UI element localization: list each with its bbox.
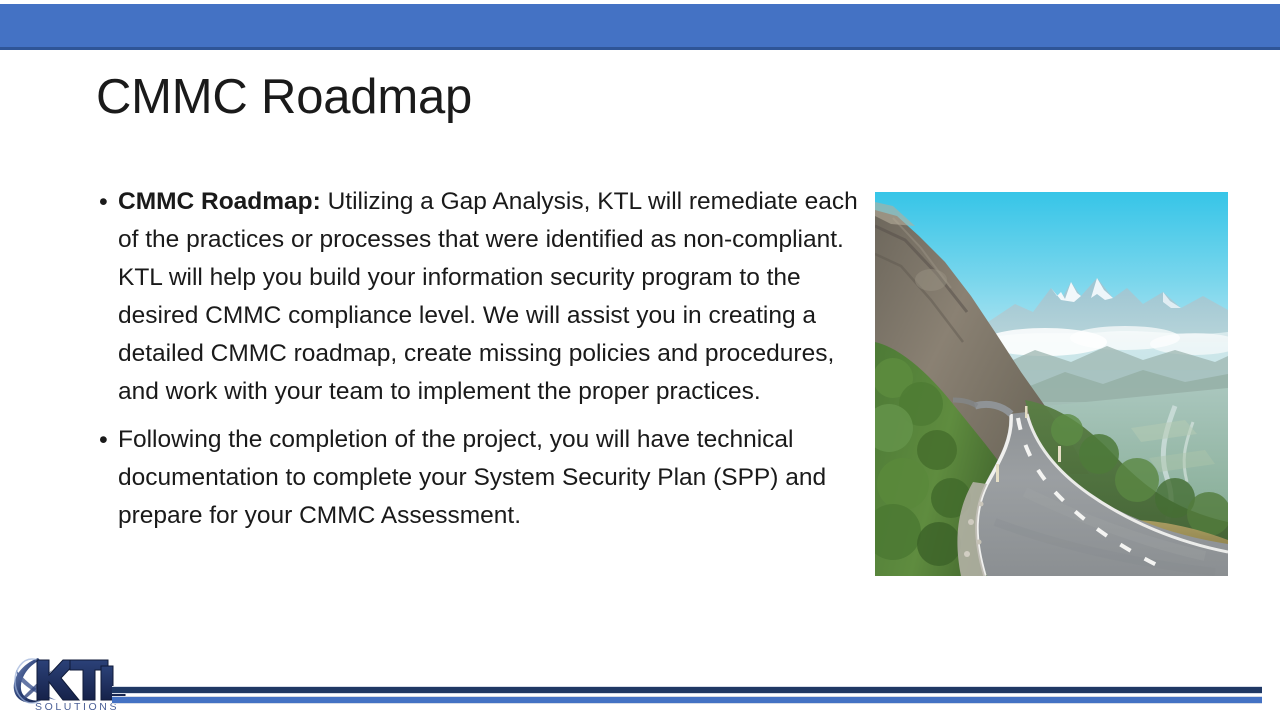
footer-rule-dark (112, 686, 1262, 694)
bullet-text: CMMC Roadmap: Utilizing a Gap Analysis, … (118, 183, 858, 411)
list-item: • Following the completion of the projec… (96, 421, 858, 535)
bullet-text: Following the completion of the project,… (118, 421, 858, 535)
bullet-body-text: Utilizing a Gap Analysis, KTL will remed… (118, 188, 858, 405)
ktl-wordmark (37, 660, 125, 700)
bullet-lead-label: CMMC Roadmap: (118, 188, 321, 215)
page-title: CMMC Roadmap (96, 68, 472, 126)
ktl-solutions-logo: SOLUTIONS (8, 648, 126, 720)
bullet-body-text: Following the completion of the project,… (118, 426, 826, 529)
mountain-road-photo (875, 192, 1228, 576)
header-accent-band (0, 4, 1280, 50)
footer-rule-light (112, 696, 1262, 704)
slide-canvas: CMMC Roadmap • CMMC Roadmap: Utilizing a… (0, 0, 1280, 720)
list-item: • CMMC Roadmap: Utilizing a Gap Analysis… (96, 183, 858, 411)
bullet-marker-icon: • (96, 183, 118, 221)
bullet-marker-icon: • (96, 421, 118, 459)
logo-tagline: SOLUTIONS (35, 701, 119, 713)
body-text-block: • CMMC Roadmap: Utilizing a Gap Analysis… (96, 183, 858, 545)
